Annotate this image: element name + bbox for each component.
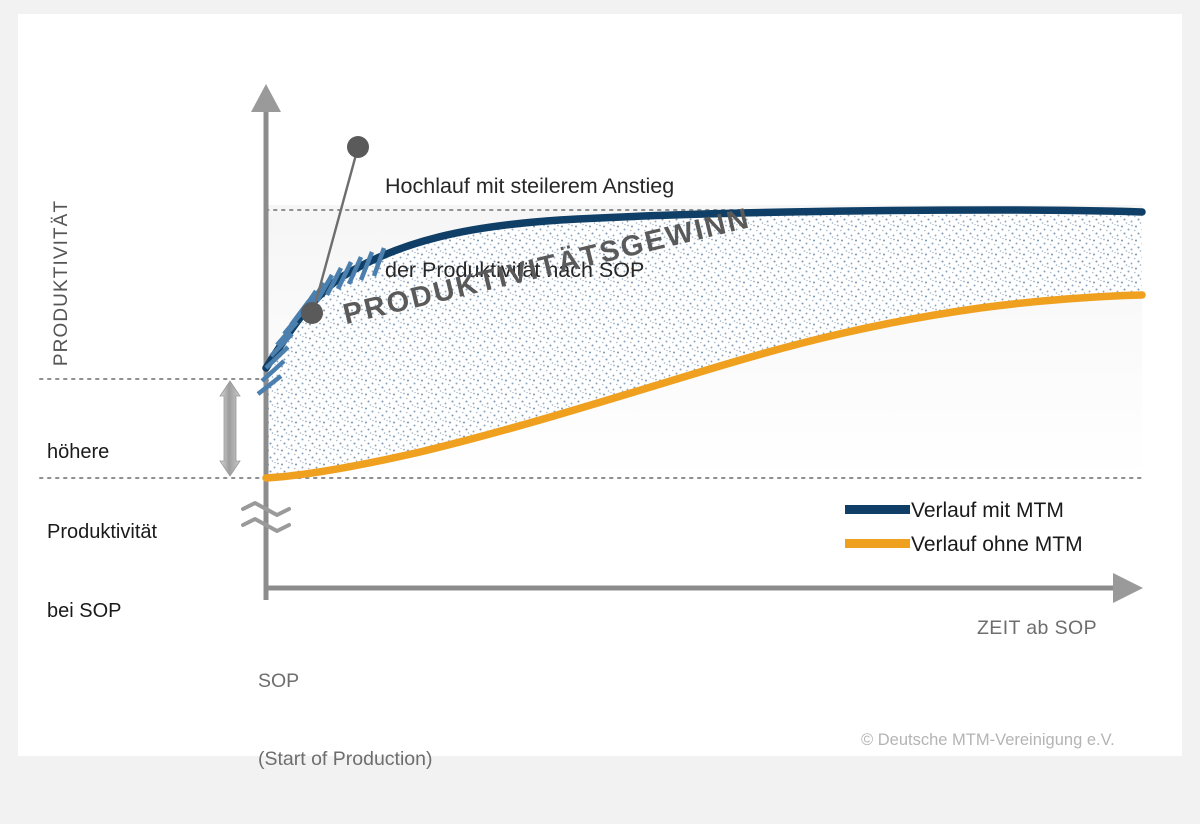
y-axis-arrowhead xyxy=(251,84,281,112)
x-axis-origin-label: SOP (Start of Production) xyxy=(258,616,433,824)
x-axis-origin-label-line-2: (Start of Production) xyxy=(258,746,433,772)
figure-root: PRODUKTIVITÄT Hochlauf mit steilerem Ans… xyxy=(0,0,1200,770)
annotation-dot-top xyxy=(347,136,369,158)
x-axis-arrowhead xyxy=(1113,573,1143,603)
x-axis-origin-label-line-1: SOP xyxy=(258,668,433,694)
side-note-line-3: bei SOP xyxy=(47,598,157,625)
side-note: höhere Produktivität bei SOP xyxy=(47,386,157,678)
side-note-line-1: höhere xyxy=(47,439,157,466)
legend-label-ohne-mtm: Verlauf ohne MTM xyxy=(911,533,1083,557)
y-axis-title: PRODUKTIVITÄT xyxy=(51,163,73,403)
annotation-line-1: Hochlauf mit steilerem Anstieg xyxy=(385,172,674,200)
legend-swatch-mit-mtm xyxy=(845,505,910,514)
annotation-dot-bottom xyxy=(301,302,323,324)
side-note-line-2: Produktivität xyxy=(47,519,157,546)
legend-label-mit-mtm: Verlauf mit MTM xyxy=(911,499,1064,523)
legend-swatch-ohne-mtm xyxy=(845,539,910,548)
higher-productivity-arrow xyxy=(220,381,240,476)
copyright-notice: © Deutsche MTM-Vereinigung e.V. xyxy=(861,731,1115,750)
x-axis-title: ZEIT ab SOP xyxy=(977,617,1097,640)
x-axis xyxy=(266,573,1143,603)
